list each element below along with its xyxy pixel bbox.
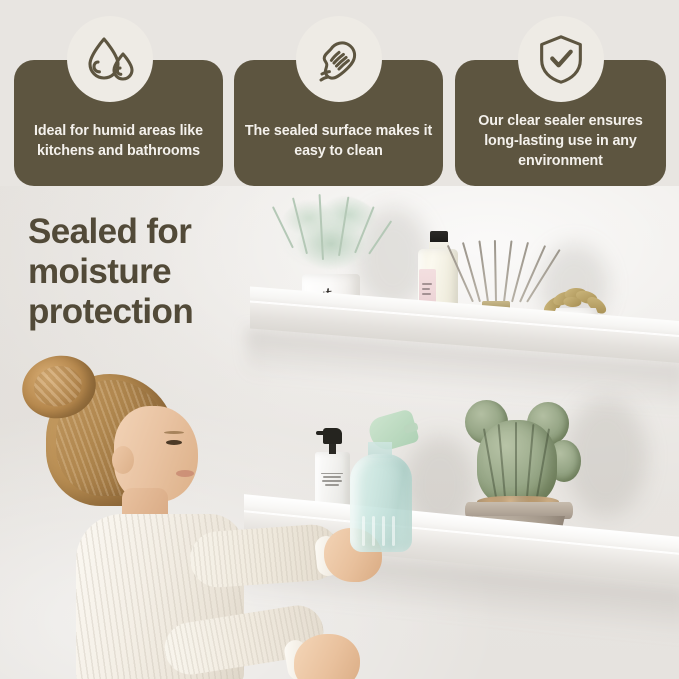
- feature-cards: Ideal for humid areas like kitchens and …: [0, 0, 679, 200]
- infographic-stage: out: [0, 0, 679, 679]
- hand-wiping-cloth-icon: [296, 16, 382, 102]
- soap-pump-head: [323, 428, 342, 444]
- young-girl-spraying-bottle: [0, 352, 324, 679]
- mint-glass-spray-bottle: [344, 414, 416, 556]
- girl-eyebrow: [164, 431, 184, 434]
- headline-text: Sealed for moisture protection: [28, 212, 278, 332]
- cactus-body: [477, 420, 557, 506]
- girl-eye: [166, 440, 182, 445]
- water-droplet-icon: [67, 16, 153, 102]
- feature-card-text: The sealed surface makes it easy to clea…: [244, 121, 433, 162]
- girl-hand-holding-bottle: [294, 634, 360, 679]
- plant-foliage: [276, 194, 386, 280]
- spray-bottle-body: [350, 454, 412, 552]
- girl-ear: [112, 446, 134, 474]
- shield-check-icon: [518, 16, 604, 102]
- girl-lips: [176, 470, 194, 477]
- feature-card-text: Our clear sealer ensures long-lasting us…: [465, 111, 656, 172]
- feature-card-text: Ideal for humid areas like kitchens and …: [24, 121, 213, 162]
